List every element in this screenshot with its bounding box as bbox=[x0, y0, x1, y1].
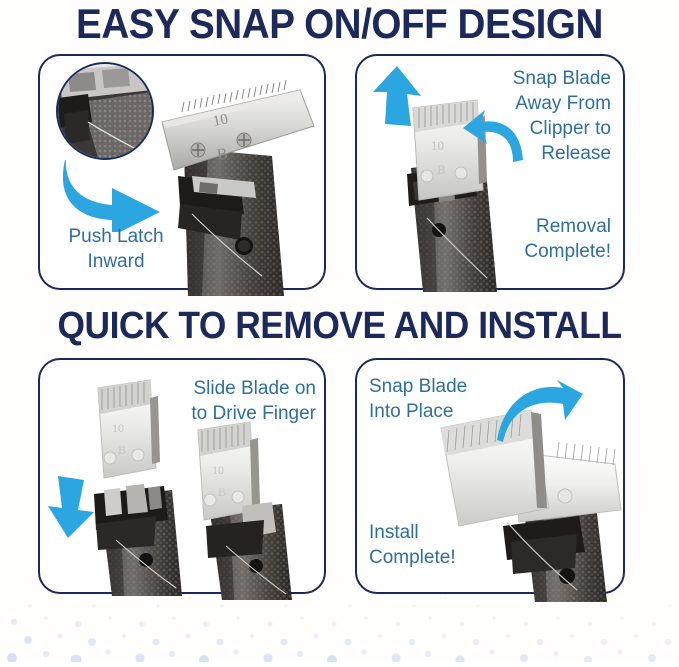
caption-push-latch-inward: Push Latch Inward bbox=[46, 224, 186, 274]
magnifier-inset-detail bbox=[56, 62, 154, 160]
caption-snap-blade-away: Snap Blade Away From Clipper to Release bbox=[431, 66, 611, 166]
panel-push-latch-inward: 10 B bbox=[38, 54, 326, 290]
decorative-dot-pattern bbox=[0, 592, 679, 662]
panel-snap-blade-away: 10 B Snap Blade Away From Clipper to Re bbox=[355, 54, 625, 290]
page-title-secondary: QUICK TO REMOVE AND INSTALL bbox=[24, 306, 655, 346]
caption-slide-blade-on: Slide Blade on to Drive Finger bbox=[146, 376, 316, 426]
panel-slide-blade-on: 10 B bbox=[38, 358, 326, 594]
panel-3-content: 10 B bbox=[40, 360, 324, 592]
caption-snap-blade-into-place: Snap Blade Into Place bbox=[369, 374, 529, 424]
page-title-primary: EASY SNAP ON/OFF DESIGN bbox=[27, 2, 652, 46]
panel-4-content: Snap Blade Into Place Install Complete! bbox=[357, 360, 623, 592]
panel-1-content: 10 B bbox=[40, 56, 324, 288]
caption-removal-complete: Removal Complete! bbox=[431, 214, 611, 264]
caption-install-complete: Install Complete! bbox=[369, 520, 529, 570]
curved-right-arrow-icon bbox=[56, 160, 164, 232]
svg-text:10: 10 bbox=[112, 421, 124, 435]
up-arrow-icon bbox=[371, 66, 423, 126]
clipper-image-panel-3-right: 10 B bbox=[168, 420, 318, 600]
panel-snap-blade-into-place: Snap Blade Into Place Install Complete! bbox=[355, 358, 625, 594]
down-arrow-icon bbox=[48, 476, 104, 538]
svg-text:10: 10 bbox=[212, 463, 224, 477]
panel-2-content: 10 B Snap Blade Away From Clipper to Re bbox=[357, 56, 623, 288]
svg-text:B: B bbox=[118, 443, 126, 457]
svg-text:B: B bbox=[218, 485, 226, 499]
